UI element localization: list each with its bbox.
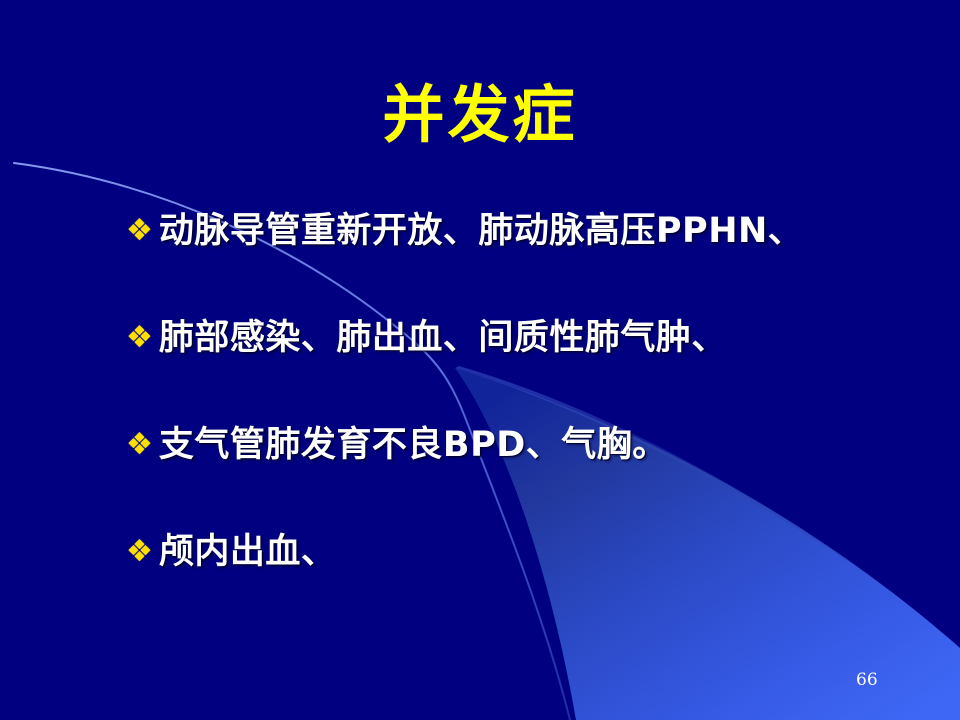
bullet-item-4: ❖ 颅内出血、 [126,529,946,636]
bullet-text-3: 支气管肺发育不良BPD、气胸。 [159,422,668,468]
bullet-text-4: 颅内出血、 [159,529,337,575]
diamond-bullet-icon: ❖ [126,208,153,254]
bullet-item-1: ❖ 动脉导管重新开放、肺动脉高压PPHN、 [126,208,946,315]
bullet-item-3: ❖ 支气管肺发育不良BPD、气胸。 [126,422,946,529]
bullet-text-2: 肺部感染、肺出血、间质性肺气肿、 [159,315,727,361]
bullet-item-2: ❖ 肺部感染、肺出血、间质性肺气肿、 [126,315,946,422]
bullet-text-1: 动脉导管重新开放、肺动脉高压PPHN、 [159,208,803,254]
slide-title: 并发症 [0,82,960,147]
page-number: 66 [856,670,878,690]
presentation-slide: 并发症 ❖ 动脉导管重新开放、肺动脉高压PPHN、 ❖ 肺部感染、肺出血、间质性… [0,0,960,720]
diamond-bullet-icon: ❖ [126,315,153,361]
diamond-bullet-icon: ❖ [126,529,153,575]
diamond-bullet-icon: ❖ [126,422,153,468]
bullet-list: ❖ 动脉导管重新开放、肺动脉高压PPHN、 ❖ 肺部感染、肺出血、间质性肺气肿、… [126,208,946,636]
